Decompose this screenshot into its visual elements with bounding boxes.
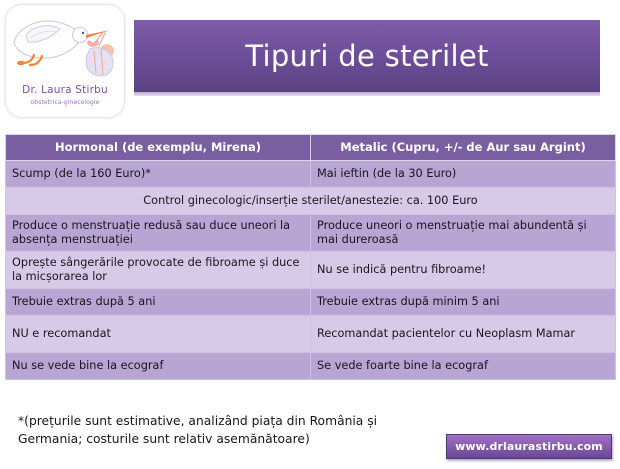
logo-specialty: obstetrica-ginecologie [6, 99, 124, 106]
stork-carrying-bundle-icon [6, 7, 124, 81]
table-cell-metalic: Nu se indică pentru fibroame! [311, 252, 616, 289]
comparison-table-wrap: Hormonal (de exemplu, Mirena) Metalic (C… [5, 134, 615, 380]
table-row: Oprește sângerările provocate de fibroam… [6, 252, 616, 289]
title-banner-underline [134, 92, 600, 96]
table-cell-metalic: Produce uneori o menstruație mai abunden… [311, 215, 616, 252]
website-url-text: www.drlaurastirbu.com [455, 440, 603, 453]
table-row: Scump (de la 160 Euro)*Mai ieftin (de la… [6, 161, 616, 188]
price-footnote: *(prețurile sunt estimative, analizând p… [18, 412, 418, 449]
page-title: Tipuri de sterilet [245, 39, 488, 73]
table-cell-hormonal: Nu se vede bine la ecograf [6, 353, 311, 380]
table-row: Trebuie extras după 5 aniTrebuie extras … [6, 289, 616, 316]
table-cell-spanning: Control ginecologic/inserție sterilet/an… [6, 188, 616, 215]
table-cell-metalic: Trebuie extras după minim 5 ani [311, 289, 616, 316]
column-header-metalic: Metalic (Cupru, +/- de Aur sau Argint) [311, 135, 616, 161]
brand-logo-card: Dr. Laura Stirbu obstetrica-ginecologie [6, 5, 124, 117]
logo-doctor-name: Dr. Laura Stirbu [6, 84, 124, 96]
table-row: Control ginecologic/inserție sterilet/an… [6, 188, 616, 215]
table-cell-metalic: Se vede foarte bine la ecograf [311, 353, 616, 380]
table-cell-metalic: Recomandat pacientelor cu Neoplasm Mamar [311, 316, 616, 353]
column-header-hormonal: Hormonal (de exemplu, Mirena) [6, 135, 311, 161]
table-cell-hormonal: NU e recomandat [6, 316, 311, 353]
table-cell-hormonal: Scump (de la 160 Euro)* [6, 161, 311, 188]
table-cell-hormonal: Produce o menstruație redusă sau duce un… [6, 215, 311, 252]
slide-title-banner: Tipuri de sterilet [134, 20, 600, 92]
website-badge[interactable]: www.drlaurastirbu.com [446, 434, 612, 459]
sterilet-comparison-table: Hormonal (de exemplu, Mirena) Metalic (C… [5, 134, 616, 380]
table-cell-hormonal: Trebuie extras după 5 ani [6, 289, 311, 316]
table-cell-metalic: Mai ieftin (de la 30 Euro) [311, 161, 616, 188]
table-row: Nu se vede bine la ecografSe vede foarte… [6, 353, 616, 380]
table-row: NU e recomandatRecomandat pacientelor cu… [6, 316, 616, 353]
table-header-row: Hormonal (de exemplu, Mirena) Metalic (C… [6, 135, 616, 161]
table-row: Produce o menstruație redusă sau duce un… [6, 215, 616, 252]
table-cell-hormonal: Oprește sângerările provocate de fibroam… [6, 252, 311, 289]
